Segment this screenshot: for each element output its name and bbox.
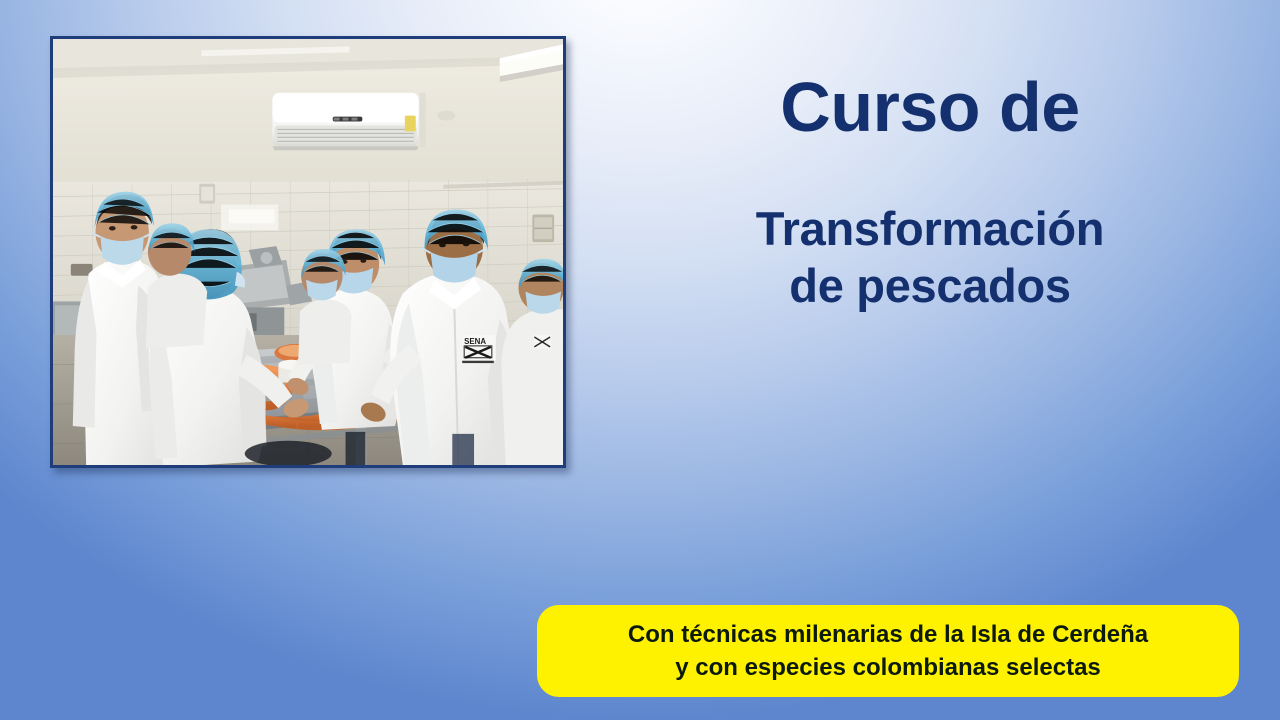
subtitle-line-2: de pescados (600, 257, 1260, 314)
page-subtitle: Transformación de pescados (600, 200, 1260, 315)
sena-logo-icon: SENA (462, 335, 496, 363)
subtitle-line-1: Transformación (600, 200, 1260, 257)
slide-canvas: SENA (0, 0, 1280, 720)
air-conditioner-icon (272, 93, 418, 150)
callout-line-2: y con especies colombianas selectas (675, 651, 1101, 684)
photo-illustration: SENA (53, 39, 563, 465)
electrical-box-icon (532, 214, 554, 242)
worker-behind-center (298, 249, 351, 365)
title-block: Curso de Transformación de pescados (600, 72, 1260, 315)
callout-line-1: Con técnicas milenarias de la Isla de Ce… (628, 618, 1148, 651)
highlight-callout: Con técnicas milenarias de la Isla de Ce… (537, 605, 1239, 697)
page-title: Curso de (600, 72, 1260, 142)
svg-text:SENA: SENA (464, 337, 486, 346)
course-photo: SENA (50, 36, 566, 468)
